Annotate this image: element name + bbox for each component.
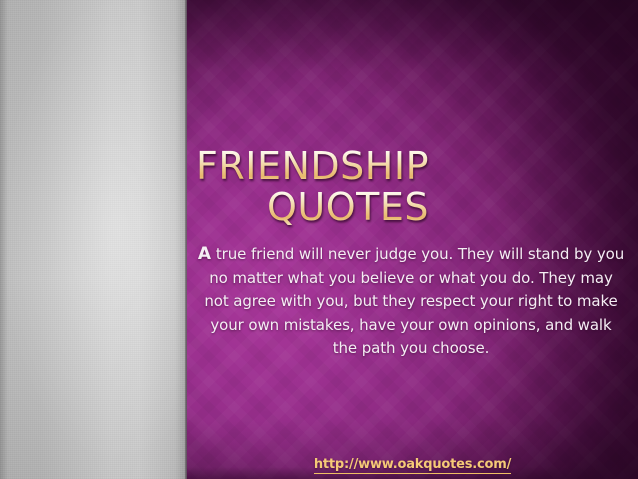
background-vignette [187, 0, 638, 479]
gray-panel-noise-texture [0, 0, 187, 479]
quote-dropcap: A [198, 244, 211, 264]
slide-canvas: Friendship Quotes A true friend will nev… [0, 0, 638, 479]
slide-title-line-1: Friendship [8, 146, 429, 187]
gray-panel-sheen [0, 0, 187, 479]
left-gray-panel [0, 0, 187, 479]
slide-title: Friendship Quotes [8, 146, 429, 228]
footer-url-row: http://www.oakquotes.com/ [187, 453, 638, 474]
diamond-damask-texture [187, 0, 638, 479]
quote-body-text: true friend will never judge you. They w… [204, 245, 624, 357]
purple-background-stage [187, 0, 638, 479]
slide-title-line-2: Quotes [8, 187, 429, 228]
source-url-link[interactable]: http://www.oakquotes.com/ [314, 457, 511, 474]
quote-paragraph: A true friend will never judge you. They… [196, 243, 626, 361]
